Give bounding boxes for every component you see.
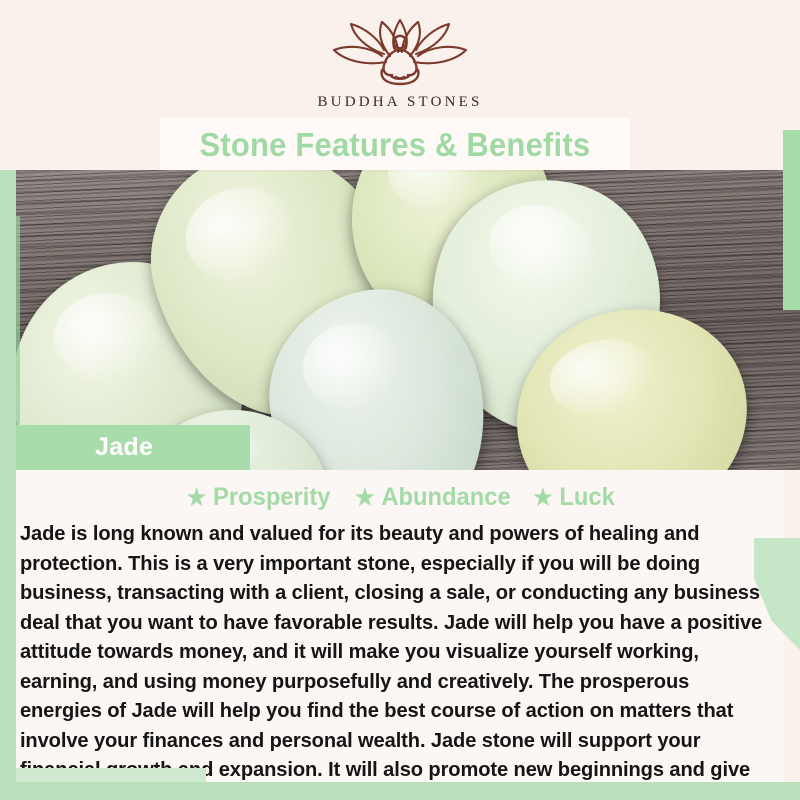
stone-description: Jade is long known and valued for its be… xyxy=(16,518,772,800)
page-title: Stone Features & Benefits xyxy=(200,128,591,161)
title-band: Stone Features & Benefits xyxy=(160,118,630,170)
decorative-bottom-left-green-flash xyxy=(16,768,206,782)
poster: BUDDHA STONES Stone Features & Benefits … xyxy=(0,0,800,800)
content-panel: ★ Prosperity ★ Abundance ★ Luck Jade is … xyxy=(16,470,784,782)
stone-name-band: Jade xyxy=(0,425,250,470)
star-icon: ★ xyxy=(187,486,207,509)
decorative-right-green-band xyxy=(783,130,800,310)
decorative-bottom-green-band xyxy=(0,782,800,800)
keyword-label: Abundance xyxy=(381,483,510,512)
brand-name: BUDDHA STONES xyxy=(0,94,800,111)
star-icon: ★ xyxy=(355,486,375,509)
lotus-meditation-figure-icon xyxy=(324,16,476,88)
brand-logo-block: BUDDHA STONES xyxy=(0,16,800,111)
keyword-label: Prosperity xyxy=(214,483,331,512)
keyword-abundance: ★ Abundance xyxy=(355,483,511,512)
star-icon: ★ xyxy=(533,486,553,509)
decorative-left-green-band xyxy=(0,170,16,800)
keyword-prosperity: ★ Prosperity xyxy=(187,483,331,512)
keyword-luck: ★ Luck xyxy=(533,483,615,512)
keyword-label: Luck xyxy=(559,483,614,512)
keyword-list: ★ Prosperity ★ Abundance ★ Luck xyxy=(16,470,784,518)
stone-name-label: Jade xyxy=(95,433,153,462)
